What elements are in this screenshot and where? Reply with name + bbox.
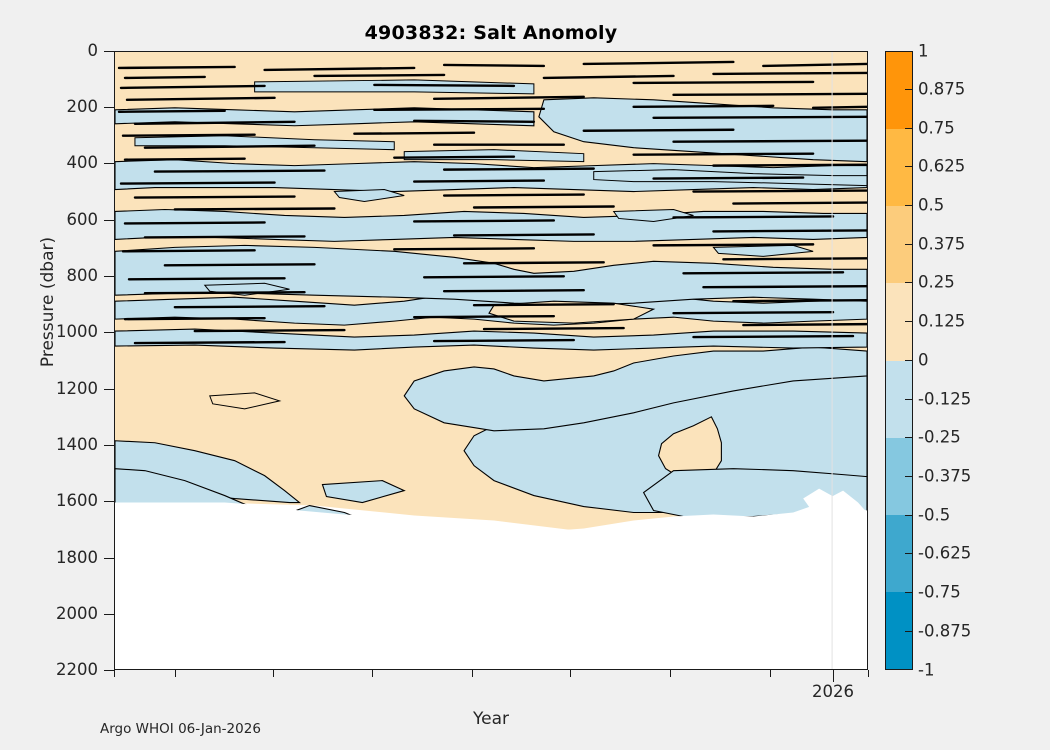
colorbar-tick bbox=[905, 166, 913, 167]
x-tick bbox=[770, 670, 771, 677]
colorbar-label: 0.125 bbox=[918, 312, 965, 331]
y-tick-label: 2200 bbox=[10, 660, 98, 679]
colorbar-label: 0.25 bbox=[918, 273, 955, 292]
colorbar-tick bbox=[905, 360, 913, 361]
colorbar-tick bbox=[905, 128, 913, 129]
colorbar-tick bbox=[905, 205, 913, 206]
y-tick-label: 1800 bbox=[10, 548, 98, 567]
x-tick bbox=[472, 670, 473, 677]
y-tick bbox=[104, 558, 114, 559]
colorbar-label: 0.625 bbox=[918, 157, 965, 176]
y-tick bbox=[104, 614, 114, 615]
colorbar-band bbox=[886, 52, 912, 129]
y-axis-label: Pressure (dbar) bbox=[38, 192, 58, 412]
colorbar-tick bbox=[905, 553, 913, 554]
y-tick bbox=[104, 220, 114, 221]
x-tick-label: 2026 bbox=[812, 682, 854, 701]
x-tick bbox=[670, 670, 671, 677]
colorbar-label: -0.75 bbox=[918, 583, 961, 602]
contour-field bbox=[115, 52, 867, 669]
y-tick bbox=[104, 332, 114, 333]
x-tick bbox=[114, 670, 115, 677]
colorbar-tick bbox=[905, 592, 913, 593]
y-tick-label: 1400 bbox=[10, 435, 98, 454]
y-tick bbox=[104, 389, 114, 390]
y-tick-label: 200 bbox=[10, 97, 98, 116]
colorbar-tick bbox=[905, 244, 913, 245]
colorbar-label: -0.5 bbox=[918, 506, 950, 525]
colorbar-label: 0 bbox=[918, 351, 929, 370]
y-tick-label: 0 bbox=[10, 41, 98, 60]
colorbar-tick bbox=[905, 631, 913, 632]
colorbar-label: -0.375 bbox=[918, 467, 971, 486]
colorbar-label: -1 bbox=[918, 661, 934, 680]
colorbar-label: 0.875 bbox=[918, 80, 965, 99]
colorbar-tick bbox=[905, 515, 913, 516]
colorbar-tick bbox=[905, 399, 913, 400]
colorbar-tick bbox=[905, 282, 913, 283]
colorbar-label: 1 bbox=[918, 42, 929, 61]
page-title: 4903832: Salt Anomoly bbox=[114, 22, 868, 44]
credit-text: Argo WHOI 06-Jan-2026 bbox=[100, 721, 261, 737]
figure-canvas: 4903832: Salt Anomoly bbox=[0, 0, 1050, 750]
x-tick bbox=[175, 670, 176, 677]
colorbar-label: 0.75 bbox=[918, 119, 955, 138]
x-tick bbox=[570, 670, 571, 677]
y-tick bbox=[104, 51, 114, 52]
colorbar-tick bbox=[905, 437, 913, 438]
colorbar-label: -0.625 bbox=[918, 544, 971, 563]
y-tick-label: 2000 bbox=[10, 604, 98, 623]
plot-area[interactable] bbox=[114, 51, 868, 670]
y-tick-label: 400 bbox=[10, 153, 98, 172]
x-tick bbox=[273, 670, 274, 677]
colorbar-label: 0.5 bbox=[918, 196, 944, 215]
y-tick-label: 1600 bbox=[10, 491, 98, 510]
y-tick bbox=[104, 163, 114, 164]
y-tick bbox=[104, 445, 114, 446]
x-tick bbox=[372, 670, 373, 677]
colorbar-label: 0.375 bbox=[918, 235, 965, 254]
colorbar-tick bbox=[905, 321, 913, 322]
colorbar-label: -0.875 bbox=[918, 622, 971, 641]
y-tick bbox=[104, 276, 114, 277]
colorbar-band bbox=[886, 129, 912, 206]
colorbar-tick bbox=[905, 89, 913, 90]
colorbar-label: -0.25 bbox=[918, 428, 961, 447]
y-tick bbox=[104, 107, 114, 108]
colorbar-tick bbox=[905, 476, 913, 477]
x-tick bbox=[868, 670, 869, 677]
colorbar-label: -0.125 bbox=[918, 390, 971, 409]
y-tick bbox=[104, 501, 114, 502]
y-tick bbox=[104, 670, 114, 671]
x-tick-2026 bbox=[833, 670, 834, 682]
